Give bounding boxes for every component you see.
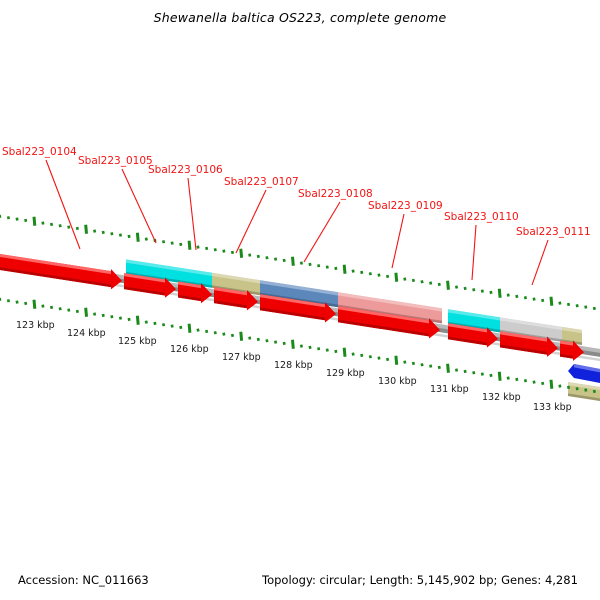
genome-map-canvas	[0, 0, 600, 600]
ruler-top-minor-tick	[353, 270, 354, 273]
ruler-tick-label: 130 kbp	[378, 376, 417, 387]
ruler-top-minor-tick	[94, 230, 95, 233]
ruler-top-minor-tick	[310, 263, 311, 266]
gene-label-sbal223_0110[interactable]: Sbal223_0110	[444, 211, 519, 223]
ruler-bottom-minor-tick	[508, 377, 509, 380]
ruler-top-major-tick	[448, 281, 449, 290]
ruler-top-major-tick	[396, 273, 397, 282]
ruler-bottom-minor-tick	[525, 379, 526, 382]
ruler-top-minor-tick	[379, 274, 380, 277]
ruler-top-minor-tick	[198, 246, 199, 249]
ruler-top-minor-tick	[77, 227, 78, 230]
ruler-bottom-minor-tick	[284, 342, 285, 345]
ruler-top-minor-tick	[594, 307, 595, 310]
feature-lower[interactable]	[568, 364, 600, 383]
ruler-bottom-minor-tick	[206, 330, 207, 333]
ruler-bottom-minor-tick	[560, 385, 561, 388]
ruler-tick-label: 127 kbp	[222, 352, 261, 363]
ruler-top-minor-tick	[336, 267, 337, 270]
ruler-top-major-tick	[137, 233, 138, 242]
ruler-top-minor-tick	[585, 306, 586, 309]
ruler-top-minor-tick	[17, 218, 18, 221]
ruler-top-major-tick	[344, 265, 345, 274]
ruler-top-minor-tick	[146, 238, 147, 241]
ruler-bottom-minor-tick	[379, 357, 380, 360]
ruler-top-minor-tick	[430, 282, 431, 285]
ruler-bottom-minor-tick	[129, 318, 130, 321]
gene-label-sbal223_0109[interactable]: Sbal223_0109	[368, 200, 443, 212]
ruler-top-minor-tick	[267, 256, 268, 259]
genome-viewer: Shewanella baltica OS223, complete genom…	[0, 0, 600, 600]
leader-line	[304, 202, 340, 262]
ruler-top-minor-tick	[60, 224, 61, 227]
ruler-bottom-minor-tick	[275, 341, 276, 344]
ruler-top-major-tick	[293, 257, 294, 266]
ruler-top-major-tick	[241, 249, 242, 258]
gene-label-sbal223_0106[interactable]: Sbal223_0106	[148, 164, 223, 176]
ruler-bottom-major-tick	[34, 300, 35, 309]
ruler-top-minor-tick	[422, 280, 423, 283]
ruler-tick-label: 129 kbp	[326, 368, 365, 379]
ruler-bottom-major-tick	[86, 308, 87, 317]
ruler-bottom-minor-tick	[103, 314, 104, 317]
ruler-top-minor-tick	[542, 299, 543, 302]
ruler-top-minor-tick	[215, 248, 216, 251]
ruler-bottom-minor-tick	[542, 382, 543, 385]
leader-line	[122, 169, 156, 243]
ruler-top-minor-tick	[301, 262, 302, 265]
ruler-top-minor-tick	[51, 223, 52, 226]
ruler-bottom-minor-tick	[465, 370, 466, 373]
ruler-tick-label: 132 kbp	[482, 392, 521, 403]
ruler-top-minor-tick	[577, 304, 578, 307]
gene-label-sbal223_0105[interactable]: Sbal223_0105	[78, 155, 153, 167]
gene-arrow[interactable]	[0, 252, 122, 289]
ruler-top-minor-tick	[405, 278, 406, 281]
ruler-bottom-minor-tick	[112, 315, 113, 318]
ruler-top-minor-tick	[180, 243, 181, 246]
ruler-bottom-minor-tick	[249, 337, 250, 340]
ruler-top-minor-tick	[465, 287, 466, 290]
ruler-bottom-minor-tick	[370, 355, 371, 358]
ruler-bottom-minor-tick	[353, 353, 354, 356]
ruler-bottom-minor-tick	[482, 373, 483, 376]
ruler-bottom-minor-tick	[25, 302, 26, 305]
ruler-top-minor-tick	[413, 279, 414, 282]
ruler-bottom-minor-tick	[215, 331, 216, 334]
ruler-top-minor-tick	[327, 266, 328, 269]
ruler-bottom-minor-tick	[517, 378, 518, 381]
ruler-bottom-minor-tick	[568, 386, 569, 389]
ruler-top-minor-tick	[456, 286, 457, 289]
gene-label-sbal223_0104[interactable]: Sbal223_0104	[2, 146, 77, 158]
ruler-top-minor-tick	[387, 275, 388, 278]
ruler-bottom-minor-tick	[577, 387, 578, 390]
ruler-tick-label: 133 kbp	[533, 402, 572, 413]
ruler-top-minor-tick	[370, 272, 371, 275]
ruler-bottom-major-tick	[189, 324, 190, 333]
ruler-top-minor-tick	[517, 295, 518, 298]
ruler-bottom-minor-tick	[456, 369, 457, 372]
ruler-bottom-major-tick	[241, 332, 242, 341]
ruler-bottom-minor-tick	[94, 313, 95, 316]
ruler-bottom-minor-tick	[60, 307, 61, 310]
ruler-top-minor-tick	[473, 288, 474, 291]
ruler-bottom-minor-tick	[491, 374, 492, 377]
ruler-bottom-major-tick	[396, 356, 397, 365]
ruler-top-major-tick	[551, 297, 552, 306]
ruler-tick-label: 124 kbp	[67, 328, 106, 339]
ruler-bottom-minor-tick	[267, 339, 268, 342]
ruler-bottom-minor-tick	[232, 334, 233, 337]
ruler-bottom-minor-tick	[224, 333, 225, 336]
ruler-top-minor-tick	[206, 247, 207, 250]
ruler-bottom-minor-tick	[318, 347, 319, 350]
ruler-bottom-major-tick	[293, 340, 294, 349]
ruler-bottom-minor-tick	[77, 310, 78, 313]
leader-line	[46, 160, 80, 249]
ruler-tick-label: 123 kbp	[16, 320, 55, 331]
ruler-top-minor-tick	[172, 242, 173, 245]
ruler-top-minor-tick	[120, 234, 121, 237]
ruler-bottom-minor-tick	[387, 358, 388, 361]
ruler-bottom-minor-tick	[68, 309, 69, 312]
feature-boxes-lower	[568, 364, 600, 401]
ruler-top-minor-tick	[275, 258, 276, 261]
ruler-bottom-minor-tick	[585, 389, 586, 392]
ruler-top-minor-tick	[25, 219, 26, 222]
leader-line	[236, 190, 266, 253]
ruler-bottom-minor-tick	[422, 363, 423, 366]
ruler-bottom-minor-tick	[146, 321, 147, 324]
ruler-top-minor-tick	[534, 298, 535, 301]
ruler-top-major-tick	[499, 289, 500, 298]
ruler-bottom-minor-tick	[405, 361, 406, 364]
ruler-bottom-minor-tick	[155, 322, 156, 325]
ruler-top-minor-tick	[508, 294, 509, 297]
ruler-top-major-tick	[34, 217, 35, 226]
ruler-top-minor-tick	[232, 251, 233, 254]
ruler-bottom-minor-tick	[301, 345, 302, 348]
ruler-bottom-minor-tick	[534, 381, 535, 384]
ruler-bottom-minor-tick	[413, 362, 414, 365]
gene-label-sbal223_0111[interactable]: Sbal223_0111	[516, 226, 591, 238]
ruler-top-major-tick	[86, 225, 87, 234]
ruler-top-minor-tick	[8, 216, 9, 219]
leader-line	[392, 214, 404, 268]
ruler-bottom-minor-tick	[163, 323, 164, 326]
ruler-bottom-major-tick	[499, 372, 500, 381]
ruler-bottom-minor-tick	[336, 350, 337, 353]
ruler-tick-label: 128 kbp	[274, 360, 313, 371]
ruler-bottom-minor-tick	[361, 354, 362, 357]
ruler-top-minor-tick	[249, 254, 250, 257]
genome-summary-text: Topology: circular; Length: 5,145,902 bp…	[262, 573, 578, 587]
ruler-top-minor-tick	[103, 231, 104, 234]
ruler-top-minor-tick	[568, 303, 569, 306]
gene-label-sbal223_0107[interactable]: Sbal223_0107	[224, 176, 299, 188]
ruler-bottom-major-tick	[448, 364, 449, 373]
accession-text: Accession: NC_011663	[18, 573, 149, 587]
ruler-top-minor-tick	[318, 264, 319, 267]
ruler-top-minor-tick	[68, 226, 69, 229]
ruler-bottom-minor-tick	[120, 317, 121, 320]
ruler-bottom-minor-tick	[430, 365, 431, 368]
ruler-top-minor-tick	[361, 271, 362, 274]
ruler-top-minor-tick	[224, 250, 225, 253]
ruler-top-minor-tick	[482, 290, 483, 293]
ruler-bottom-minor-tick	[43, 305, 44, 308]
gene-label-sbal223_0108[interactable]: Sbal223_0108	[298, 188, 373, 200]
ruler-top-minor-tick	[491, 291, 492, 294]
ruler-bottom-minor-tick	[198, 329, 199, 332]
ruler-top-minor-tick	[258, 255, 259, 258]
ruler-tick-label: 131 kbp	[430, 384, 469, 395]
ruler-tick-label: 126 kbp	[170, 344, 209, 355]
ruler-bottom-minor-tick	[17, 301, 18, 304]
ruler-top-minor-tick	[439, 283, 440, 286]
ruler-bottom-major-tick	[344, 348, 345, 357]
ruler-bottom-minor-tick	[310, 346, 311, 349]
ruler-bottom-minor-tick	[172, 325, 173, 328]
leader-line	[472, 225, 476, 280]
ruler-top-minor-tick	[129, 235, 130, 238]
ruler-bottom-minor-tick	[473, 371, 474, 374]
ruler-tick-label: 125 kbp	[118, 336, 157, 347]
ruler-bottom-major-tick	[137, 316, 138, 325]
ruler-top-minor-tick	[112, 232, 113, 235]
ruler-bottom-minor-tick	[439, 366, 440, 369]
ruler-bottom-minor-tick	[180, 326, 181, 329]
ruler-top-minor-tick	[560, 302, 561, 305]
leader-line	[532, 240, 548, 285]
ruler-top-minor-tick	[284, 259, 285, 262]
ruler-bottom-minor-tick	[51, 306, 52, 309]
ruler-top-minor-tick	[43, 222, 44, 225]
ruler-bottom-minor-tick	[8, 299, 9, 302]
ruler-bottom-minor-tick	[327, 349, 328, 352]
leader-line	[188, 178, 196, 250]
ruler-bottom-minor-tick	[594, 390, 595, 393]
ruler-bottom-major-tick	[551, 380, 552, 389]
ruler-top-major-tick	[189, 241, 190, 250]
ruler-top-minor-tick	[525, 296, 526, 299]
ruler-top-minor-tick	[163, 240, 164, 243]
ruler-bottom-minor-tick	[258, 338, 259, 341]
